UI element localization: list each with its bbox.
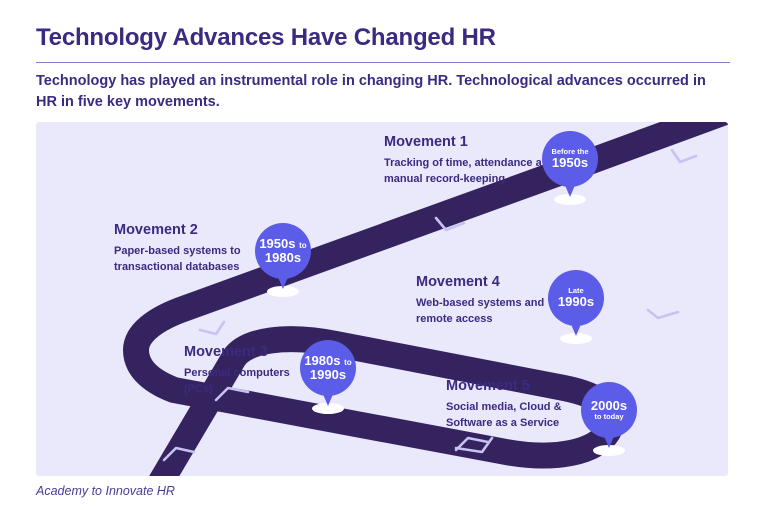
- timeline-pin-1[interactable]: Before the 1950s: [542, 131, 598, 205]
- timeline-panel: Movement 1 Tracking of time, attendance …: [36, 122, 728, 476]
- pin-label-range-end-3: 1990s: [310, 368, 346, 382]
- timeline-pin-5[interactable]: 2000s to today: [581, 382, 637, 456]
- timeline-pin-2[interactable]: 1950s to 1980s: [255, 223, 311, 297]
- movement-description-2: Paper-based systems to transactional dat…: [114, 244, 274, 276]
- movement-block-2: Movement 2 Paper-based systems to transa…: [114, 222, 274, 276]
- movement-block-5: Movement 5 Social media, Cloud & Softwar…: [446, 378, 586, 432]
- pin-label-5: 2000s to today: [581, 382, 637, 438]
- pin-label-main-1: 1950s: [552, 156, 588, 170]
- movement-heading-2: Movement 2: [114, 222, 274, 239]
- pin-label-range-start-2: 1950s to: [259, 237, 306, 251]
- movement-heading-1: Movement 1: [384, 134, 562, 151]
- movement-block-1: Movement 1 Tracking of time, attendance …: [384, 134, 562, 188]
- infographic-page: Technology Advances Have Changed HR Tech…: [0, 0, 768, 510]
- timeline-pin-4[interactable]: Late 1990s: [548, 270, 604, 344]
- pin-label-main-5: to today: [594, 413, 623, 421]
- movement-description-4: Web-based systems and remote access: [416, 296, 566, 328]
- movement-block-3: Movement 3 Personal computers (PCs): [184, 344, 314, 398]
- pin-label-top-5: 2000s: [591, 399, 627, 413]
- page-subtitle: Technology has played an instrumental ro…: [36, 71, 716, 113]
- page-title: Technology Advances Have Changed HR: [36, 24, 736, 52]
- movement-description-5: Social media, Cloud & Software as a Serv…: [446, 400, 586, 432]
- movement-description-1: Tracking of time, attendance and manual …: [384, 156, 562, 188]
- footer-attribution: Academy to Innovate HR: [36, 484, 175, 498]
- pin-label-1: Before the 1950s: [542, 131, 598, 187]
- pin-label-range-start-3: 1980s to: [304, 354, 351, 368]
- movement-heading-3: Movement 3: [184, 344, 314, 361]
- pin-label-main-4: 1990s: [558, 295, 594, 309]
- pin-label-range-end-2: 1980s: [265, 251, 301, 265]
- movement-description-3: Personal computers (PCs): [184, 366, 314, 398]
- timeline-pin-3[interactable]: 1980s to 1990s: [300, 340, 356, 414]
- movement-heading-4: Movement 4: [416, 274, 566, 291]
- pin-label-2: 1950s to 1980s: [255, 223, 311, 279]
- pin-label-4: Late 1990s: [548, 270, 604, 326]
- movement-block-4: Movement 4 Web-based systems and remote …: [416, 274, 566, 328]
- title-divider: [36, 62, 730, 63]
- pin-label-3: 1980s to 1990s: [300, 340, 356, 396]
- movement-heading-5: Movement 5: [446, 378, 586, 395]
